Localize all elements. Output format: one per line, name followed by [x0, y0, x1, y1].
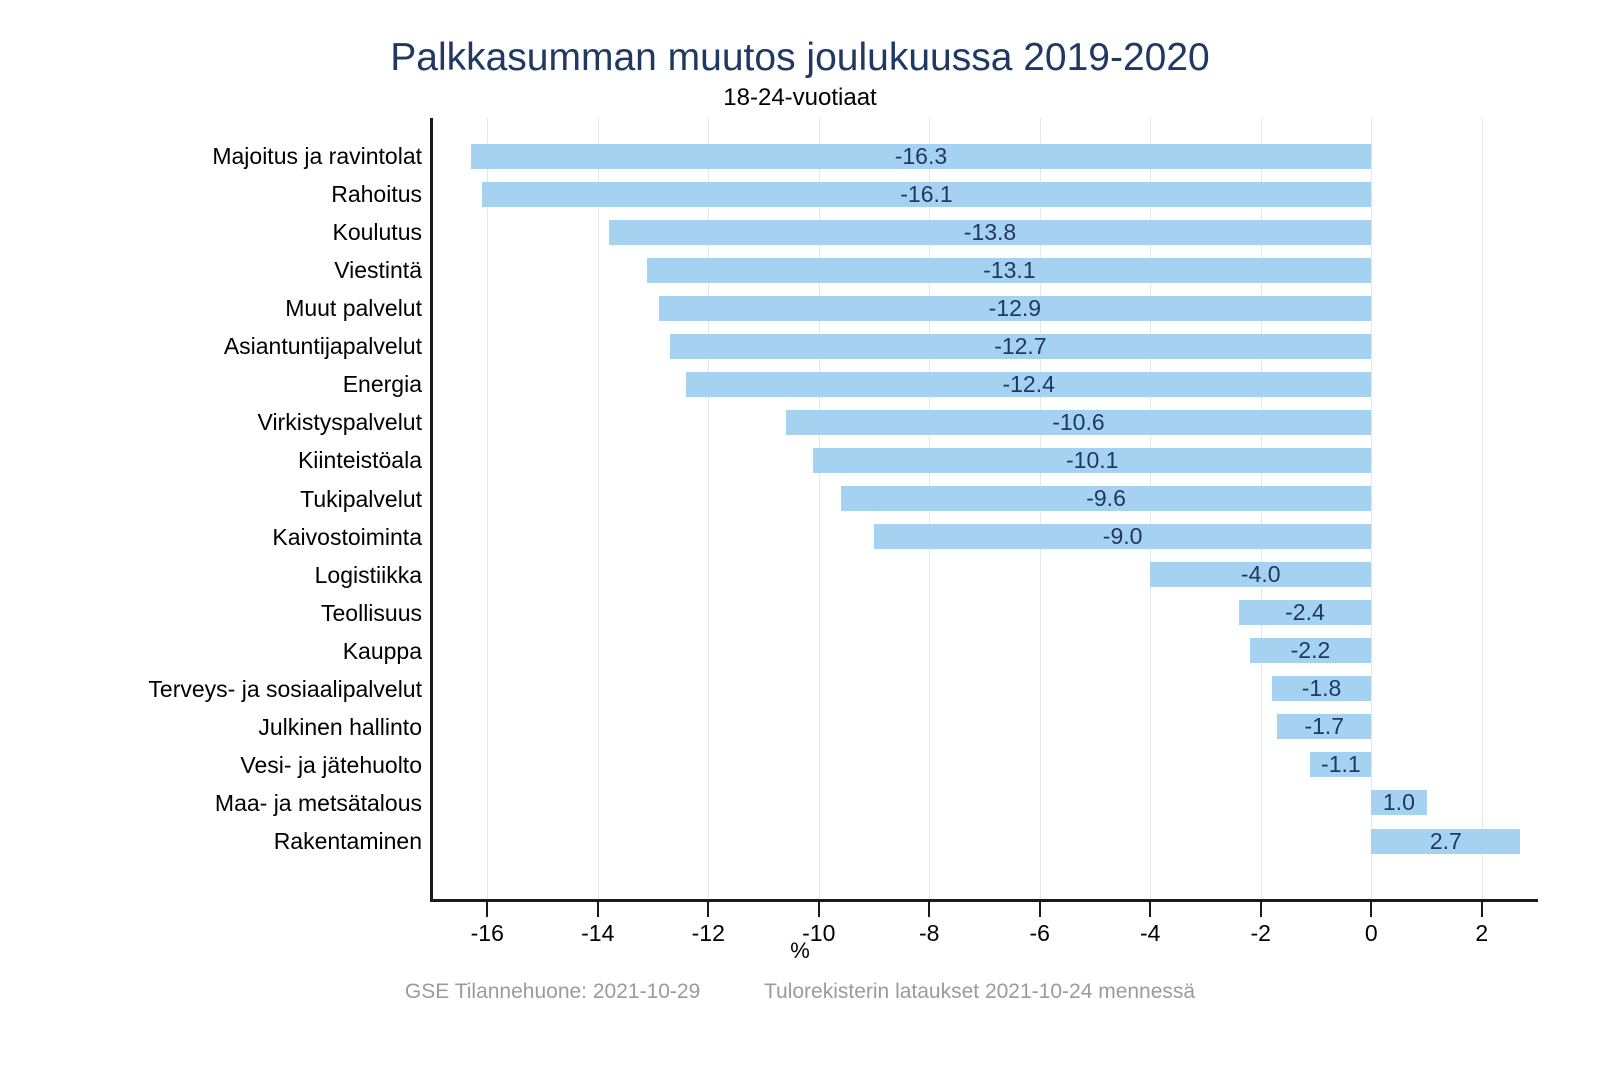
category-label: Tukipalvelut [300, 487, 422, 511]
category-label: Logistiikka [315, 563, 422, 587]
footer-note-left: GSE Tilannehuone: 2021-10-29 [405, 980, 700, 1004]
y-axis-line [430, 118, 433, 902]
category-label: Vesi- ja jätehuolto [240, 753, 422, 777]
x-tick-mark [707, 902, 709, 917]
bar-value-label: -16.3 [895, 144, 947, 169]
x-tick-mark [1260, 902, 1262, 917]
category-label: Rahoitus [331, 182, 422, 206]
gridline [487, 118, 488, 900]
category-label: Rakentaminen [274, 829, 422, 853]
bar-value-label: -2.2 [1291, 638, 1331, 663]
bar-value-label: -16.1 [900, 182, 952, 207]
x-tick-mark [597, 902, 599, 917]
x-tick-mark [928, 902, 930, 917]
bar-value-label: 2.7 [1430, 829, 1462, 854]
category-label: Asiantuntijapalvelut [224, 334, 422, 358]
bar-value-label: -2.4 [1285, 600, 1325, 625]
bar-value-label: -10.1 [1066, 448, 1118, 473]
gridline [1371, 118, 1372, 900]
category-label: Virkistyspalvelut [258, 410, 422, 434]
category-label: Teollisuus [321, 601, 422, 625]
bar-value-label: -13.1 [983, 258, 1035, 283]
category-label: Julkinen hallinto [258, 715, 422, 739]
bar-value-label: -13.8 [964, 220, 1016, 245]
footer-note-right: Tulorekisterin lataukset 2021-10-24 menn… [764, 980, 1195, 1004]
category-label: Kauppa [343, 639, 422, 663]
x-tick-mark [818, 902, 820, 917]
category-label: Maa- ja metsätalous [215, 791, 422, 815]
chart-subtitle: 18-24-vuotiaat [0, 84, 1600, 112]
x-tick-mark [1481, 902, 1483, 917]
category-label: Viestintä [334, 258, 422, 282]
category-label: Energia [343, 372, 422, 396]
x-axis-label: % [0, 938, 1600, 964]
category-label: Kaivostoiminta [272, 525, 422, 549]
bar-value-label: -1.8 [1302, 676, 1342, 701]
bar-value-label: -10.6 [1052, 410, 1104, 435]
category-label: Majoitus ja ravintolat [212, 144, 422, 168]
chart-title: Palkkasumman muutos joulukuussa 2019-202… [0, 36, 1600, 80]
x-tick-mark [1039, 902, 1041, 917]
bar-value-label: 1.0 [1383, 790, 1415, 815]
x-tick-mark [1370, 902, 1372, 917]
x-tick-mark [1149, 902, 1151, 917]
category-label: Muut palvelut [285, 296, 422, 320]
x-tick-mark [486, 902, 488, 917]
bar-value-label: -9.6 [1086, 486, 1126, 511]
bar-chart: Palkkasumman muutos joulukuussa 2019-202… [0, 0, 1600, 1067]
bar-value-label: -9.0 [1103, 524, 1143, 549]
gridline [598, 118, 599, 900]
bar-value-label: -12.9 [989, 296, 1041, 321]
bar-value-label: -4.0 [1241, 562, 1281, 587]
bar-value-label: -12.7 [994, 334, 1046, 359]
category-label: Kiinteistöala [298, 448, 422, 472]
category-label: Koulutus [332, 220, 422, 244]
footer-notes: GSE Tilannehuone: 2021-10-29 Tulorekiste… [0, 980, 1600, 1004]
bar-value-label: -12.4 [1002, 372, 1054, 397]
bar-value-label: -1.7 [1304, 714, 1344, 739]
category-label: Terveys- ja sosiaalipalvelut [148, 677, 422, 701]
gridline [1482, 118, 1483, 900]
bar-value-label: -1.1 [1321, 752, 1361, 777]
